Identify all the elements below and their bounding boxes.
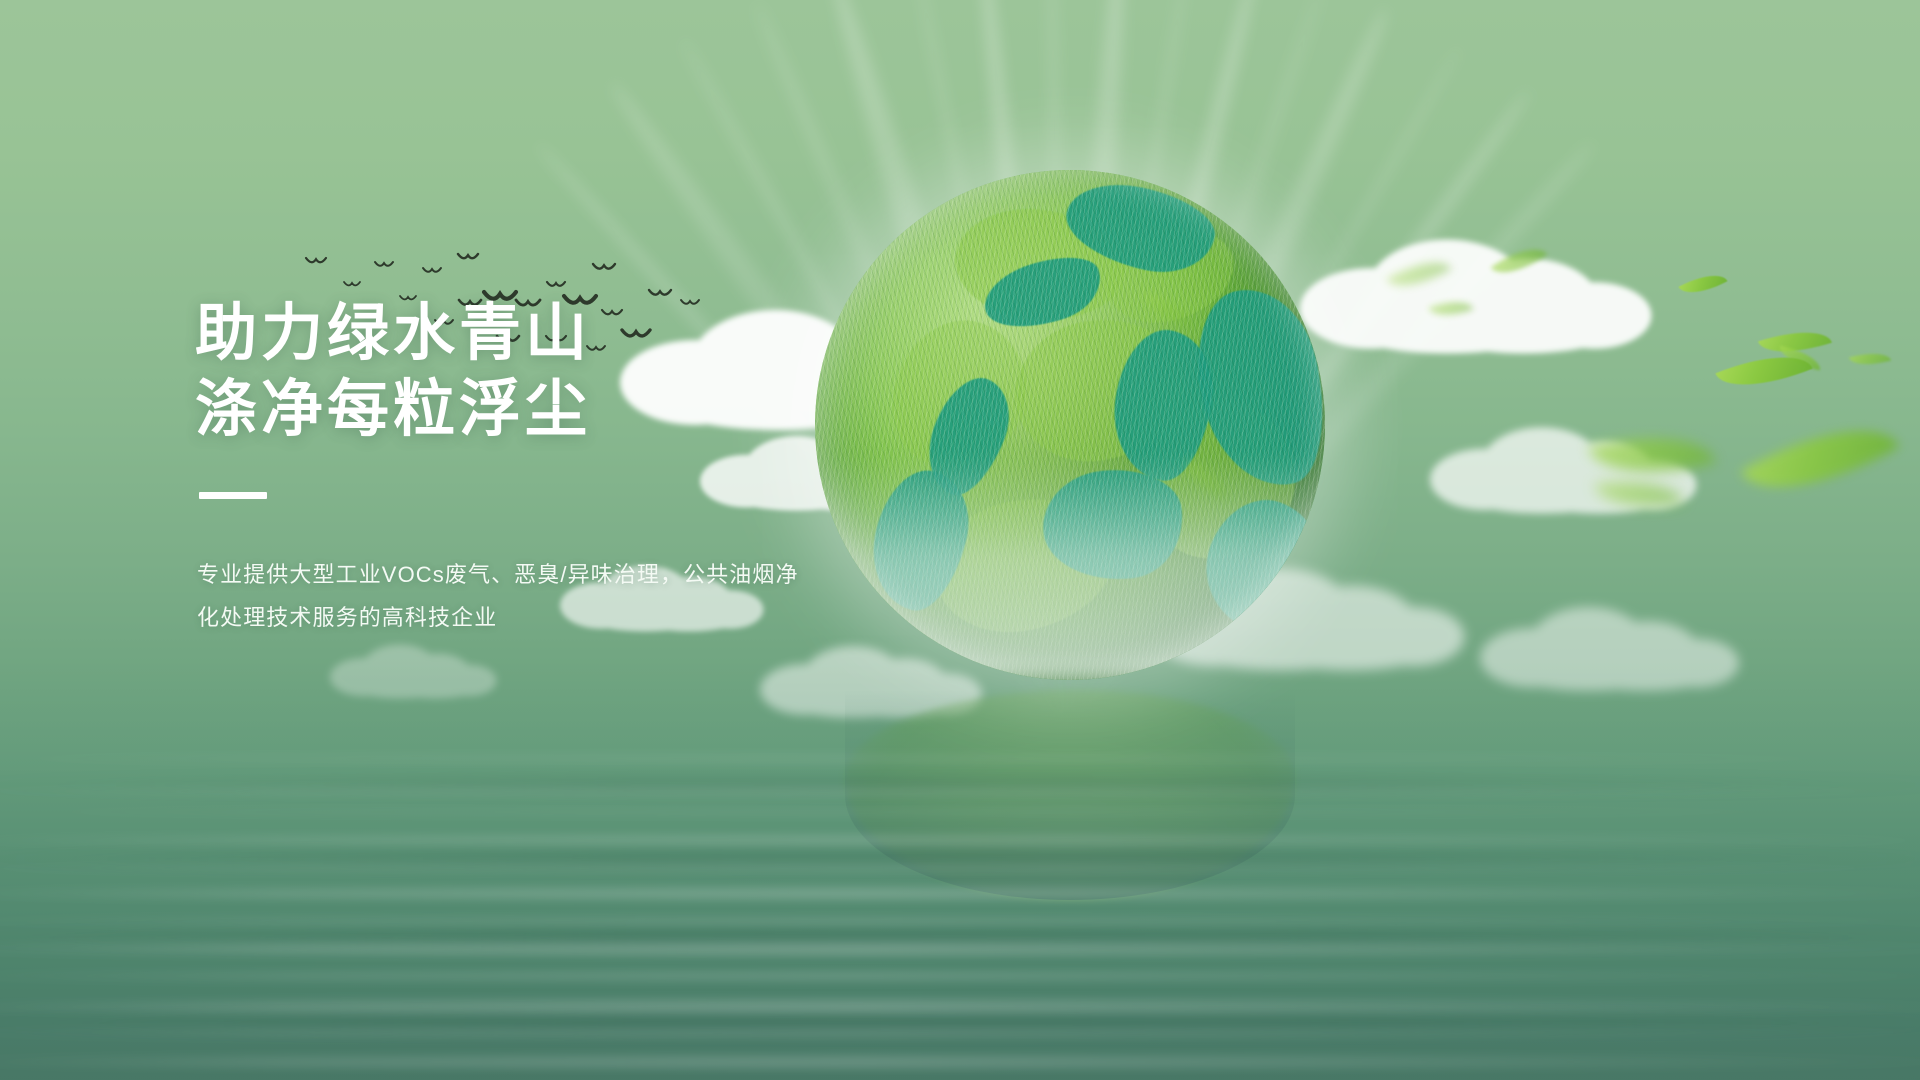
water-ripple xyxy=(0,865,1920,871)
leaf-icon xyxy=(1849,347,1891,371)
cloud-puff xyxy=(362,645,439,695)
cloud-puff xyxy=(1338,297,1557,354)
leaf-icon xyxy=(1777,346,1823,371)
cloud-puff xyxy=(1655,639,1739,688)
water-shadow-band xyxy=(0,778,1920,792)
leaf-icon xyxy=(1758,320,1832,364)
cloud-puff xyxy=(330,658,398,696)
water-ripple xyxy=(0,756,1920,761)
water-surface xyxy=(0,660,1920,1080)
cloud-puff xyxy=(784,682,922,718)
bird-icon xyxy=(375,262,393,266)
leaf-icon xyxy=(1386,248,1452,300)
bird-icon xyxy=(593,264,615,269)
water-ripple xyxy=(0,810,1920,814)
cloud-puff xyxy=(389,672,484,698)
cloud-puff xyxy=(1457,259,1600,349)
cloud-puff xyxy=(404,654,472,697)
cloud-puff xyxy=(1549,442,1657,510)
leaf-icon xyxy=(1588,418,1716,492)
hero-banner: 助力绿水青山 涤净每粒浮尘 专业提供大型工业VOCs废气、恶臭/异味治理，公共油… xyxy=(0,0,1920,1080)
page-title-line-2: 涤净每粒浮尘 xyxy=(195,372,955,448)
cloud-puff xyxy=(838,683,964,718)
cloud-puff xyxy=(1480,427,1602,506)
globe-reflection xyxy=(845,690,1295,900)
hero-description-line-2: 化处理技术服务的高科技企业 xyxy=(197,596,955,639)
leaf-icon xyxy=(1428,293,1473,323)
bird-icon xyxy=(423,268,441,272)
cloud-puff xyxy=(1367,240,1529,345)
cloud-puff xyxy=(1480,628,1585,688)
water-ripple xyxy=(0,942,1920,955)
leaf-icon xyxy=(1741,396,1900,521)
water-shadow-band xyxy=(0,850,1920,868)
cloud-puff xyxy=(1459,470,1625,513)
leaf-icon xyxy=(1594,472,1684,516)
hero-description-line-1: 专业提供大型工业VOCs废气、恶臭/异味治理，公共油烟净 xyxy=(197,553,955,596)
cloud-puff xyxy=(1363,607,1465,667)
water-shadow-band xyxy=(0,1012,1920,1034)
cloud-puff xyxy=(1524,472,1675,514)
leaf-icon xyxy=(1715,339,1812,403)
leaf-icon xyxy=(1678,265,1727,302)
cloud-puff xyxy=(443,665,497,697)
water-ripple xyxy=(0,888,1920,899)
water-ripple xyxy=(0,972,1920,980)
cloud-puff xyxy=(348,672,452,699)
title-underline-rule xyxy=(199,492,267,499)
hero-copy-block: 助力绿水青山 涤净每粒浮尘 专业提供大型工业VOCs废气、恶臭/异味治理，公共油… xyxy=(195,296,955,639)
bird-icon xyxy=(458,254,478,258)
cloud-puff xyxy=(1430,449,1538,510)
cloud-puff xyxy=(1538,282,1652,349)
water-ripple xyxy=(0,788,1920,795)
bird-icon xyxy=(547,282,565,286)
bird-icon xyxy=(649,290,671,295)
bird-icon xyxy=(306,258,326,262)
cloud-puff xyxy=(1596,621,1701,688)
cloud-puff xyxy=(1529,607,1648,684)
water-ripple xyxy=(0,918,1920,925)
water-shadow-band xyxy=(0,928,1920,948)
water-ripple xyxy=(0,1056,1920,1068)
cloud-puff xyxy=(1424,298,1624,353)
water-ripple xyxy=(0,836,1920,845)
reflection-fade xyxy=(845,690,1295,900)
water-ripple xyxy=(0,1028,1920,1037)
cloud-puff xyxy=(1571,650,1718,691)
cloud-puff xyxy=(1508,649,1669,691)
water-ripple xyxy=(0,1000,1920,1014)
bird-icon xyxy=(344,282,360,285)
leaf-icon xyxy=(1491,237,1548,286)
cloud-puff xyxy=(1610,460,1696,510)
page-title-line-1: 助力绿水青山 xyxy=(195,296,955,372)
